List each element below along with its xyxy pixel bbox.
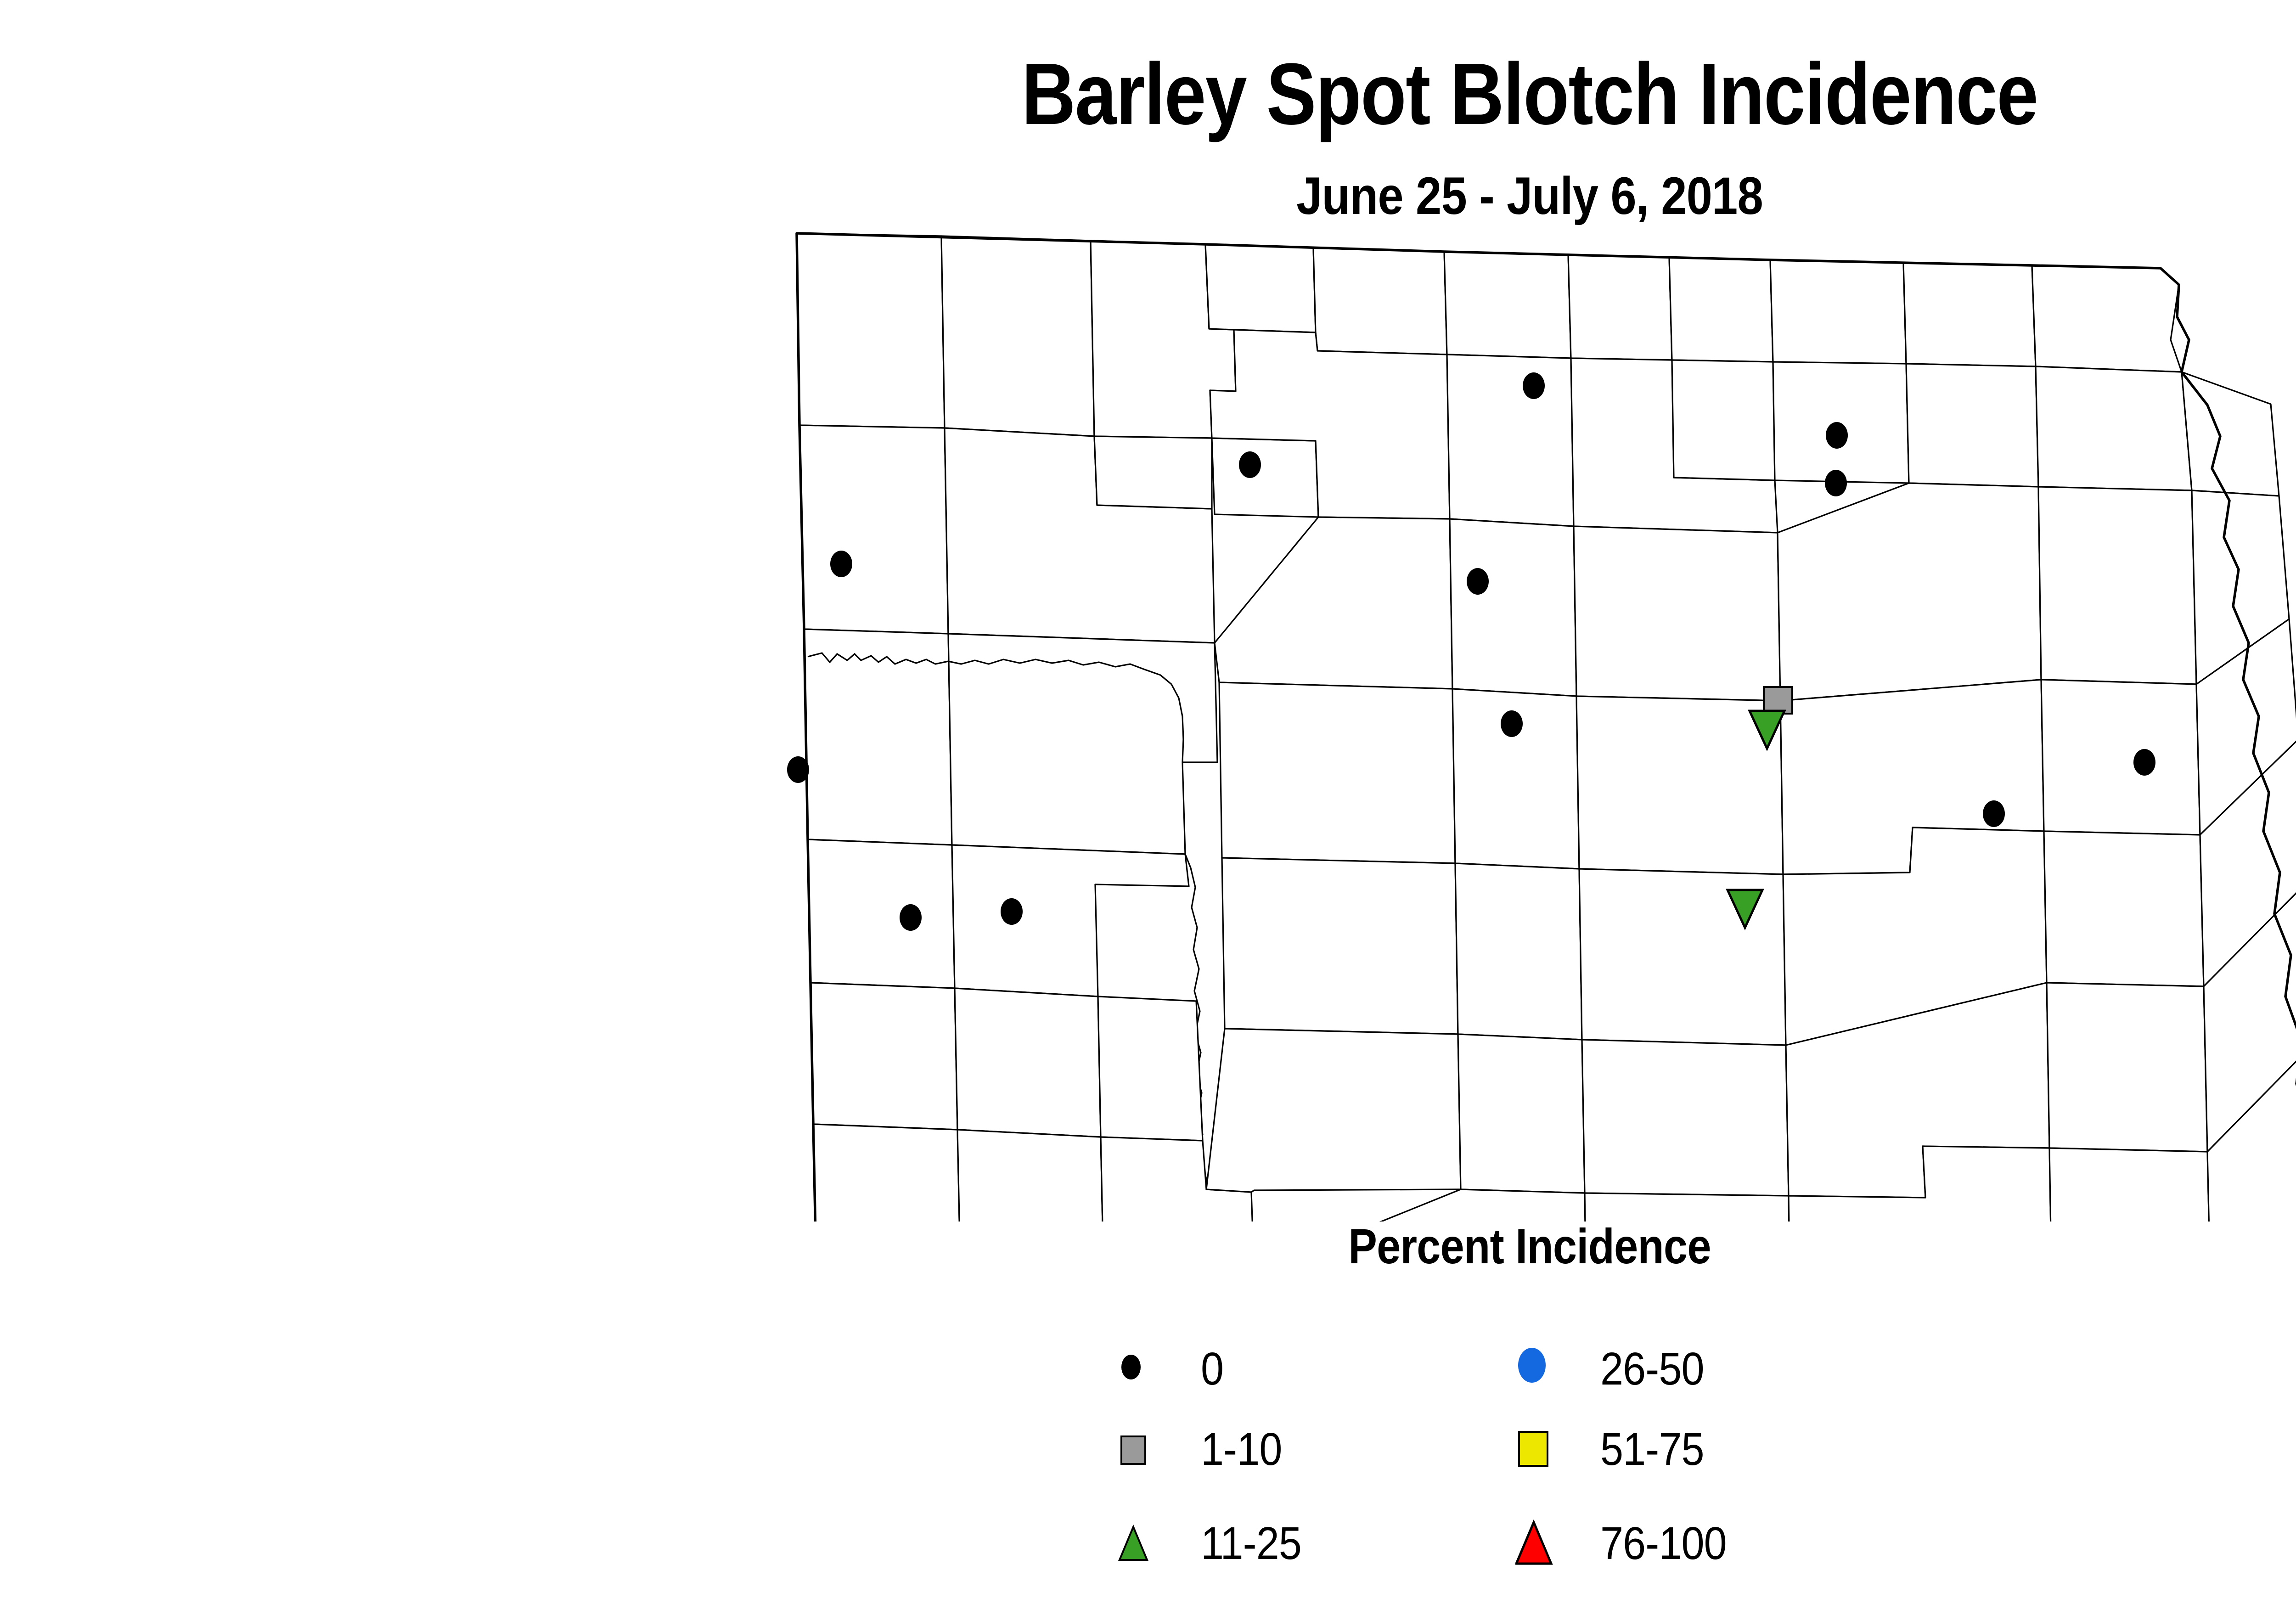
legend-label-5: 76-100 (1600, 1520, 1727, 1566)
legend-item-0[interactable]: 0 (1116, 1343, 1437, 1398)
marker-incidence-0 (1467, 568, 1489, 595)
marker-incidence-0 (1001, 898, 1023, 925)
marker-incidence-0 (787, 756, 809, 783)
square-marker-icon (1116, 1424, 1166, 1479)
legend-item-1[interactable]: 1-10 (1116, 1424, 1437, 1479)
legend-item-3[interactable]: 26-50 (1515, 1343, 1883, 1398)
legend: Percent Incidence 0 1-10 11-25 (0, 1222, 2296, 1607)
legend-item-4[interactable]: 51-75 (1515, 1424, 1883, 1479)
marker-incidence-0 (1239, 451, 1261, 478)
triangle-marker-icon (1515, 1518, 1566, 1573)
marker-incidence-0 (900, 904, 922, 931)
page-subtitle: June 25 - July 6, 2018 (184, 170, 2296, 223)
legend-title: Percent Incidence (199, 1222, 2296, 1271)
circle-marker-icon (1116, 1343, 1166, 1398)
legend-items: 0 1-10 11-25 26-50 (1116, 1343, 1896, 1582)
marker-incidence-0 (1523, 372, 1545, 399)
triangle-marker-icon (1116, 1518, 1166, 1573)
marker-incidence-0 (1501, 710, 1523, 737)
legend-label-4: 51-75 (1600, 1426, 1704, 1472)
marker-incidence-0 (830, 551, 852, 577)
marker-incidence-0 (1825, 470, 1847, 496)
county-boundaries (797, 233, 2296, 1222)
marker-incidence-1-10 (1764, 687, 1792, 714)
marker-incidence-0 (2133, 749, 2155, 776)
map-figure: Barley Spot Blotch Incidence June 25 - J… (0, 0, 2296, 1610)
legend-item-2[interactable]: 11-25 (1116, 1518, 1437, 1573)
legend-item-5[interactable]: 76-100 (1515, 1518, 1883, 1573)
square-marker-icon (1515, 1424, 1566, 1479)
north-dakota-county-map (709, 220, 2296, 1222)
legend-label-1: 1-10 (1201, 1426, 1282, 1472)
page-title: Barley Spot Blotch Incidence (214, 51, 2296, 138)
circle-marker-icon (1515, 1343, 1566, 1398)
legend-label-0: 0 (1201, 1346, 1223, 1392)
legend-label-2: 11-25 (1201, 1520, 1301, 1566)
marker-incidence-0 (1826, 422, 1848, 449)
legend-label-3: 26-50 (1600, 1346, 1704, 1392)
map-svg (709, 220, 2296, 1222)
marker-incidence-0 (1983, 800, 2005, 827)
